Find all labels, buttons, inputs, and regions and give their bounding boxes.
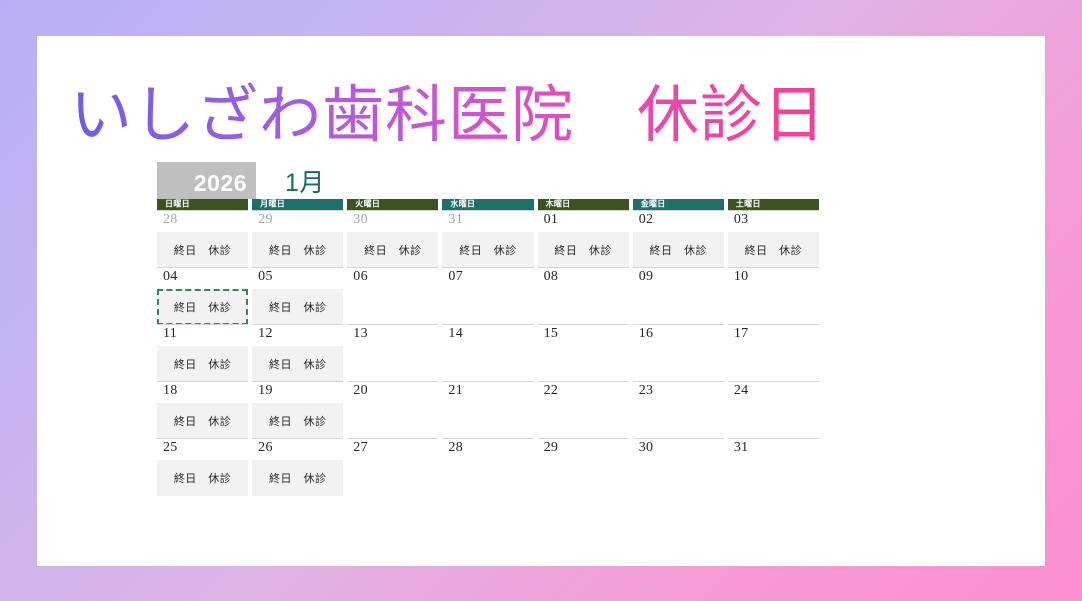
day-number: 21: [448, 383, 463, 399]
calendar-day-cell[interactable]: 03終日 休診: [728, 210, 819, 267]
calendar-week-row: 18終日 休診19終日 休診2021222324: [157, 381, 819, 438]
calendar-event-label: 終日 休診: [269, 413, 327, 429]
calendar-day-cell[interactable]: 08: [538, 267, 629, 324]
year-chip: 2026: [157, 162, 256, 199]
calendar-event-label: 終日 休診: [269, 242, 327, 258]
day-number: 22: [544, 383, 559, 399]
day-number: 29: [544, 440, 559, 456]
day-number: 03: [734, 212, 749, 228]
calendar-day-cell[interactable]: 29終日 休診: [252, 210, 343, 267]
weekday-header-0: 日曜日: [157, 199, 248, 210]
day-number: 27: [353, 440, 368, 456]
day-number: 05: [258, 269, 273, 285]
calendar-event[interactable]: 終日 休診: [728, 232, 819, 268]
slide-canvas: いしざわ歯科医院 休診日 2026 1月 日曜日月曜日火曜日水曜日木曜日金曜日土…: [37, 36, 1045, 566]
day-number: 26: [258, 440, 273, 456]
day-number: 25: [163, 440, 178, 456]
day-number: 14: [448, 326, 463, 342]
day-number: 20: [353, 383, 368, 399]
calendar-event[interactable]: 終日 休診: [252, 346, 343, 382]
day-number: 10: [734, 269, 749, 285]
day-number: 31: [734, 440, 749, 456]
year-label: 2026: [194, 170, 247, 197]
calendar-week-row: 28終日 休診29終日 休診30終日 休診31終日 休診01終日 休診02終日 …: [157, 210, 819, 267]
calendar: 2026 1月 日曜日月曜日火曜日水曜日木曜日金曜日土曜日 28終日 休診29終…: [157, 162, 819, 495]
calendar-day-cell[interactable]: 19終日 休診: [252, 381, 343, 438]
day-number: 17: [734, 326, 749, 342]
day-number: 01: [544, 212, 559, 228]
calendar-event-label: 終日 休診: [269, 299, 327, 315]
day-number: 04: [163, 269, 178, 285]
calendar-day-cell[interactable]: 28: [442, 438, 533, 495]
calendar-event[interactable]: 終日 休診: [347, 232, 438, 268]
calendar-event-label: 終日 休診: [269, 470, 327, 486]
calendar-event-label: 終日 休診: [364, 242, 422, 258]
weekday-header-4: 木曜日: [538, 199, 629, 210]
calendar-day-cell[interactable]: 31終日 休診: [442, 210, 533, 267]
day-number: 29: [258, 212, 273, 228]
calendar-event-label: 終日 休診: [269, 356, 327, 372]
calendar-day-cell[interactable]: 09: [633, 267, 724, 324]
day-number: 28: [448, 440, 463, 456]
calendar-day-cell[interactable]: 07: [442, 267, 533, 324]
day-number: 12: [258, 326, 273, 342]
calendar-event-label: 終日 休診: [174, 242, 232, 258]
calendar-day-cell[interactable]: 02終日 休診: [633, 210, 724, 267]
weekday-header-2: 火曜日: [347, 199, 438, 210]
day-number: 08: [544, 269, 559, 285]
calendar-day-cell[interactable]: 05終日 休診: [252, 267, 343, 324]
weekday-header-5: 金曜日: [633, 199, 724, 210]
calendar-event[interactable]: 終日 休診: [633, 232, 724, 268]
calendar-day-cell[interactable]: 13: [347, 324, 438, 381]
page-title: いしざわ歯科医院 休診日: [70, 81, 826, 150]
calendar-event[interactable]: 終日 休診: [252, 232, 343, 268]
calendar-grid: 28終日 休診29終日 休診30終日 休診31終日 休診01終日 休診02終日 …: [157, 210, 819, 495]
calendar-event-label: 終日 休診: [174, 413, 232, 429]
weekday-header-label: 水曜日: [450, 198, 475, 210]
calendar-day-cell[interactable]: 06: [347, 267, 438, 324]
calendar-event-label: 終日 休診: [174, 356, 232, 372]
calendar-day-cell[interactable]: 23: [633, 381, 724, 438]
calendar-day-cell[interactable]: 29: [538, 438, 629, 495]
calendar-day-cell[interactable]: 30終日 休診: [347, 210, 438, 267]
calendar-event[interactable]: 終日 休診: [442, 232, 533, 268]
calendar-day-cell[interactable]: 27: [347, 438, 438, 495]
weekday-header-label: 日曜日: [165, 198, 190, 210]
day-number: 30: [639, 440, 654, 456]
calendar-day-cell[interactable]: 26終日 休診: [252, 438, 343, 495]
calendar-day-cell[interactable]: 22: [538, 381, 629, 438]
weekday-header-6: 土曜日: [728, 199, 819, 210]
calendar-day-cell[interactable]: 31: [728, 438, 819, 495]
calendar-week-row: 11終日 休診12終日 休診1314151617: [157, 324, 819, 381]
calendar-day-cell[interactable]: 15: [538, 324, 629, 381]
weekday-header-3: 水曜日: [442, 199, 533, 210]
calendar-event[interactable]: 終日 休診: [157, 346, 248, 382]
calendar-day-cell[interactable]: 21: [442, 381, 533, 438]
day-number: 07: [448, 269, 463, 285]
calendar-day-cell[interactable]: 10: [728, 267, 819, 324]
calendar-event[interactable]: 終日 休診: [157, 403, 248, 439]
calendar-event-label: 終日 休診: [174, 470, 232, 486]
calendar-day-cell[interactable]: 17: [728, 324, 819, 381]
calendar-event[interactable]: 終日 休診: [157, 460, 248, 496]
calendar-event-label: 終日 休診: [554, 242, 612, 258]
weekday-header-label: 月曜日: [260, 198, 285, 210]
day-number: 09: [639, 269, 654, 285]
weekday-header-label: 金曜日: [641, 198, 666, 210]
calendar-event[interactable]: 終日 休診: [252, 289, 343, 325]
calendar-day-cell[interactable]: 24: [728, 381, 819, 438]
calendar-day-cell[interactable]: 04終日 休診: [157, 267, 248, 324]
day-number: 06: [353, 269, 368, 285]
calendar-day-cell[interactable]: 25終日 休診: [157, 438, 248, 495]
day-number: 16: [639, 326, 654, 342]
calendar-week-row: 25終日 休診26終日 休診2728293031: [157, 438, 819, 495]
calendar-week-row: 04終日 休診05終日 休診0607080910: [157, 267, 819, 324]
day-number: 13: [353, 326, 368, 342]
day-number: 23: [639, 383, 654, 399]
day-number: 11: [163, 326, 177, 342]
calendar-event-selected[interactable]: 終日 休診: [157, 289, 248, 325]
calendar-day-cell[interactable]: 12終日 休診: [252, 324, 343, 381]
calendar-event[interactable]: 終日 休診: [252, 460, 343, 496]
calendar-event-label: 終日 休診: [459, 242, 517, 258]
day-number: 24: [734, 383, 749, 399]
calendar-day-cell[interactable]: 30: [633, 438, 724, 495]
calendar-event-label: 終日 休診: [745, 242, 803, 258]
calendar-header: 2026 1月: [157, 162, 819, 199]
day-number: 15: [544, 326, 559, 342]
calendar-day-cell[interactable]: 14: [442, 324, 533, 381]
calendar-event[interactable]: 終日 休診: [538, 232, 629, 268]
weekday-header-row: 日曜日月曜日火曜日水曜日木曜日金曜日土曜日: [157, 199, 819, 210]
calendar-day-cell[interactable]: 16: [633, 324, 724, 381]
calendar-day-cell[interactable]: 20: [347, 381, 438, 438]
calendar-event[interactable]: 終日 休診: [157, 232, 248, 268]
calendar-event-label: 終日 休診: [174, 299, 232, 315]
weekday-header-label: 土曜日: [736, 198, 761, 210]
day-number: 30: [353, 212, 368, 228]
weekday-header-1: 月曜日: [252, 199, 343, 210]
day-number: 02: [639, 212, 654, 228]
day-number: 19: [258, 383, 273, 399]
calendar-event[interactable]: 終日 休診: [252, 403, 343, 439]
calendar-day-cell[interactable]: 01終日 休診: [538, 210, 629, 267]
weekday-header-label: 木曜日: [546, 198, 571, 210]
month-label: 1月: [285, 163, 325, 199]
day-number: 31: [448, 212, 463, 228]
calendar-day-cell[interactable]: 18終日 休診: [157, 381, 248, 438]
calendar-day-cell[interactable]: 28終日 休診: [157, 210, 248, 267]
day-number: 18: [163, 383, 178, 399]
calendar-day-cell[interactable]: 11終日 休診: [157, 324, 248, 381]
calendar-event-label: 終日 休診: [650, 242, 708, 258]
weekday-header-label: 火曜日: [355, 198, 380, 210]
day-number: 28: [163, 212, 178, 228]
